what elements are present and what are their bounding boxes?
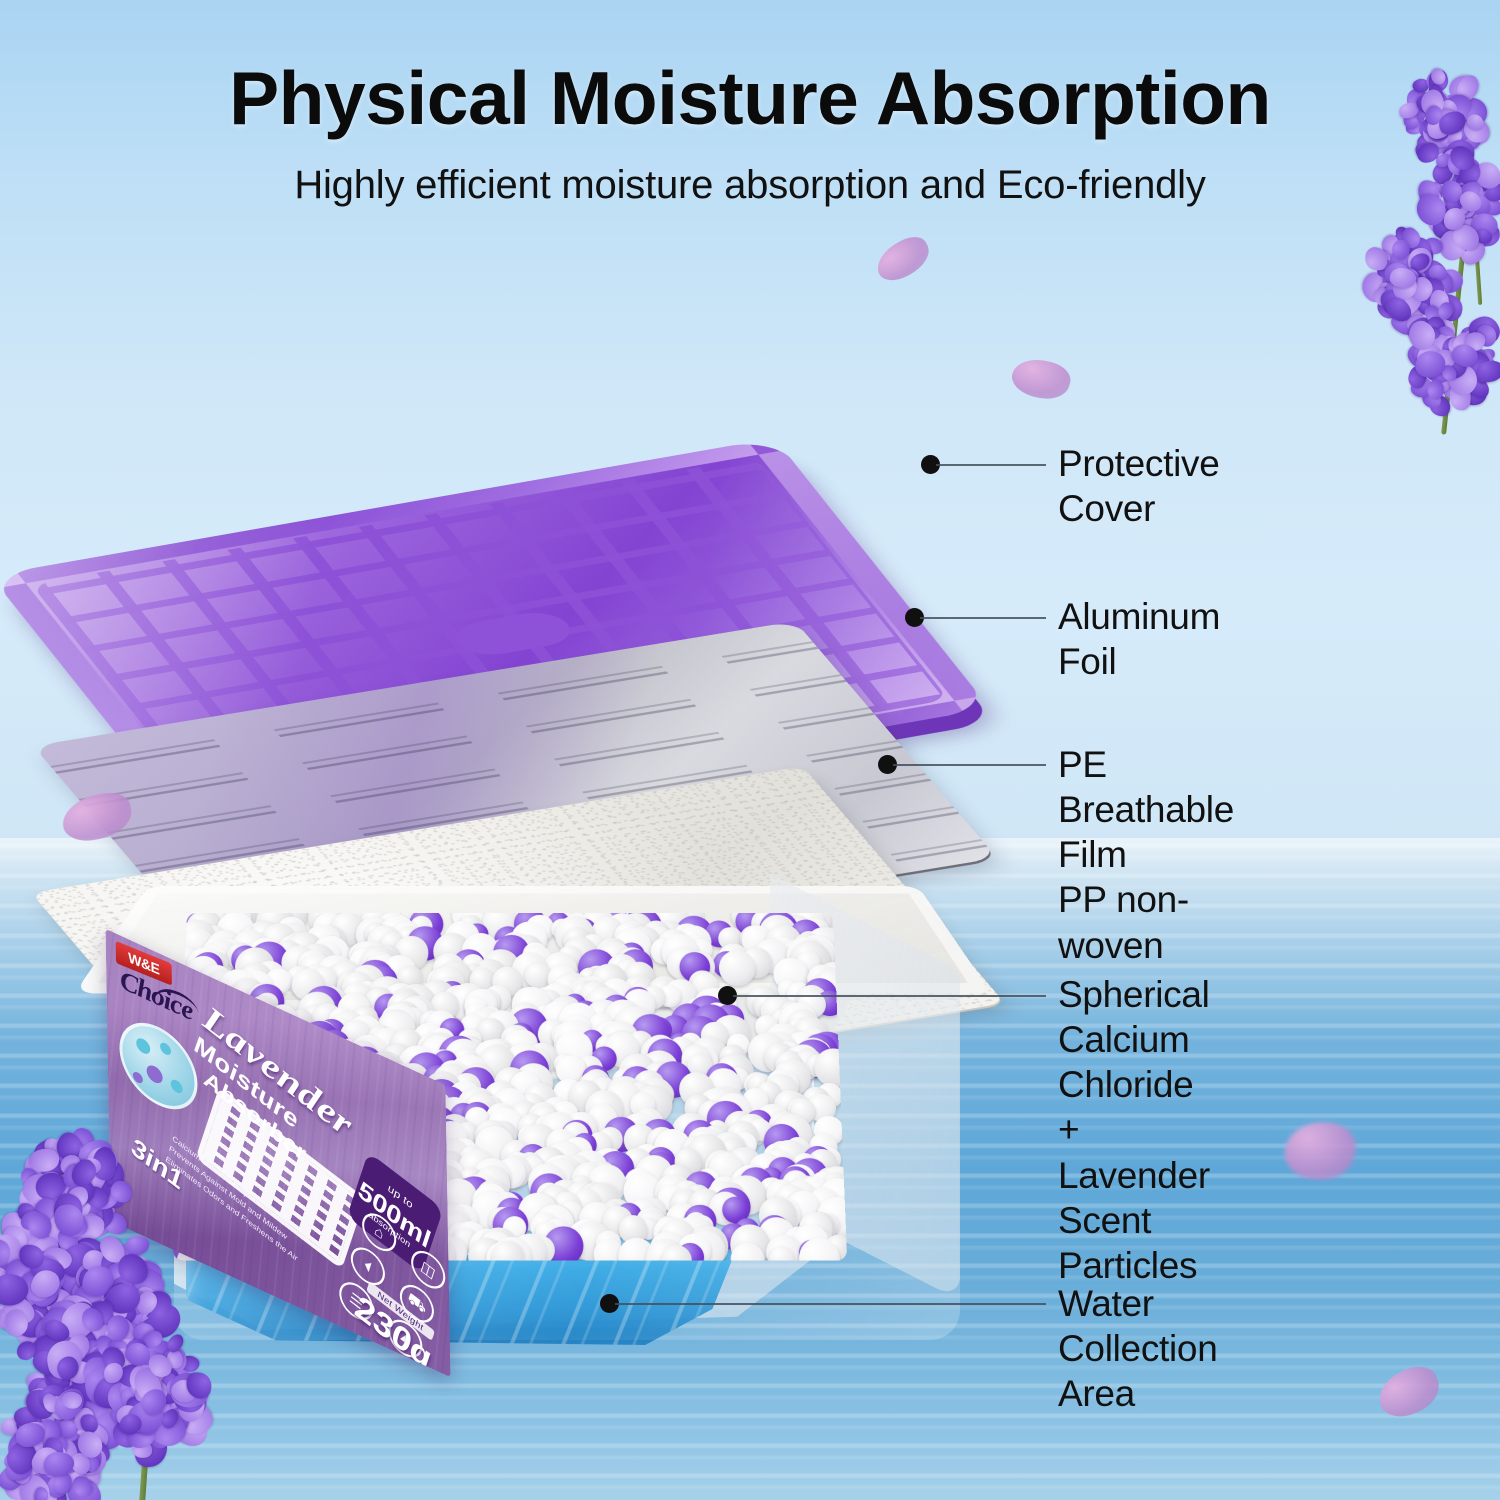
callout-label: Water Collection Area bbox=[1058, 1281, 1217, 1416]
page-title: Physical Moisture Absorption bbox=[0, 55, 1500, 141]
callout-label: Protective Cover bbox=[1058, 441, 1220, 531]
infographic-canvas: Physical Moisture Absorption Highly effi… bbox=[0, 0, 1500, 1500]
page-subtitle: Highly efficient moisture absorption and… bbox=[0, 163, 1500, 208]
callout-label: Spherical Calcium Chloride + Lavender Sc… bbox=[1058, 972, 1210, 1288]
callout-leader-line bbox=[733, 995, 1046, 997]
callout-label: Aluminum Foil bbox=[1058, 594, 1220, 684]
callout-leader-line bbox=[936, 464, 1046, 466]
callout-leader-line bbox=[893, 764, 1046, 766]
pe-breathable-film-layer bbox=[118, 668, 948, 898]
callout-leader-line bbox=[615, 1303, 1046, 1305]
lavender-sprig-bottom-left bbox=[0, 1165, 290, 1500]
callout-label: PE Breathable Film PP non-woven bbox=[1058, 742, 1234, 968]
lavender-floret bbox=[125, 1236, 150, 1257]
callout-leader-line bbox=[920, 617, 1046, 619]
lavender-floret bbox=[1476, 360, 1500, 383]
lavender-sprig-top-right bbox=[1355, 95, 1500, 445]
